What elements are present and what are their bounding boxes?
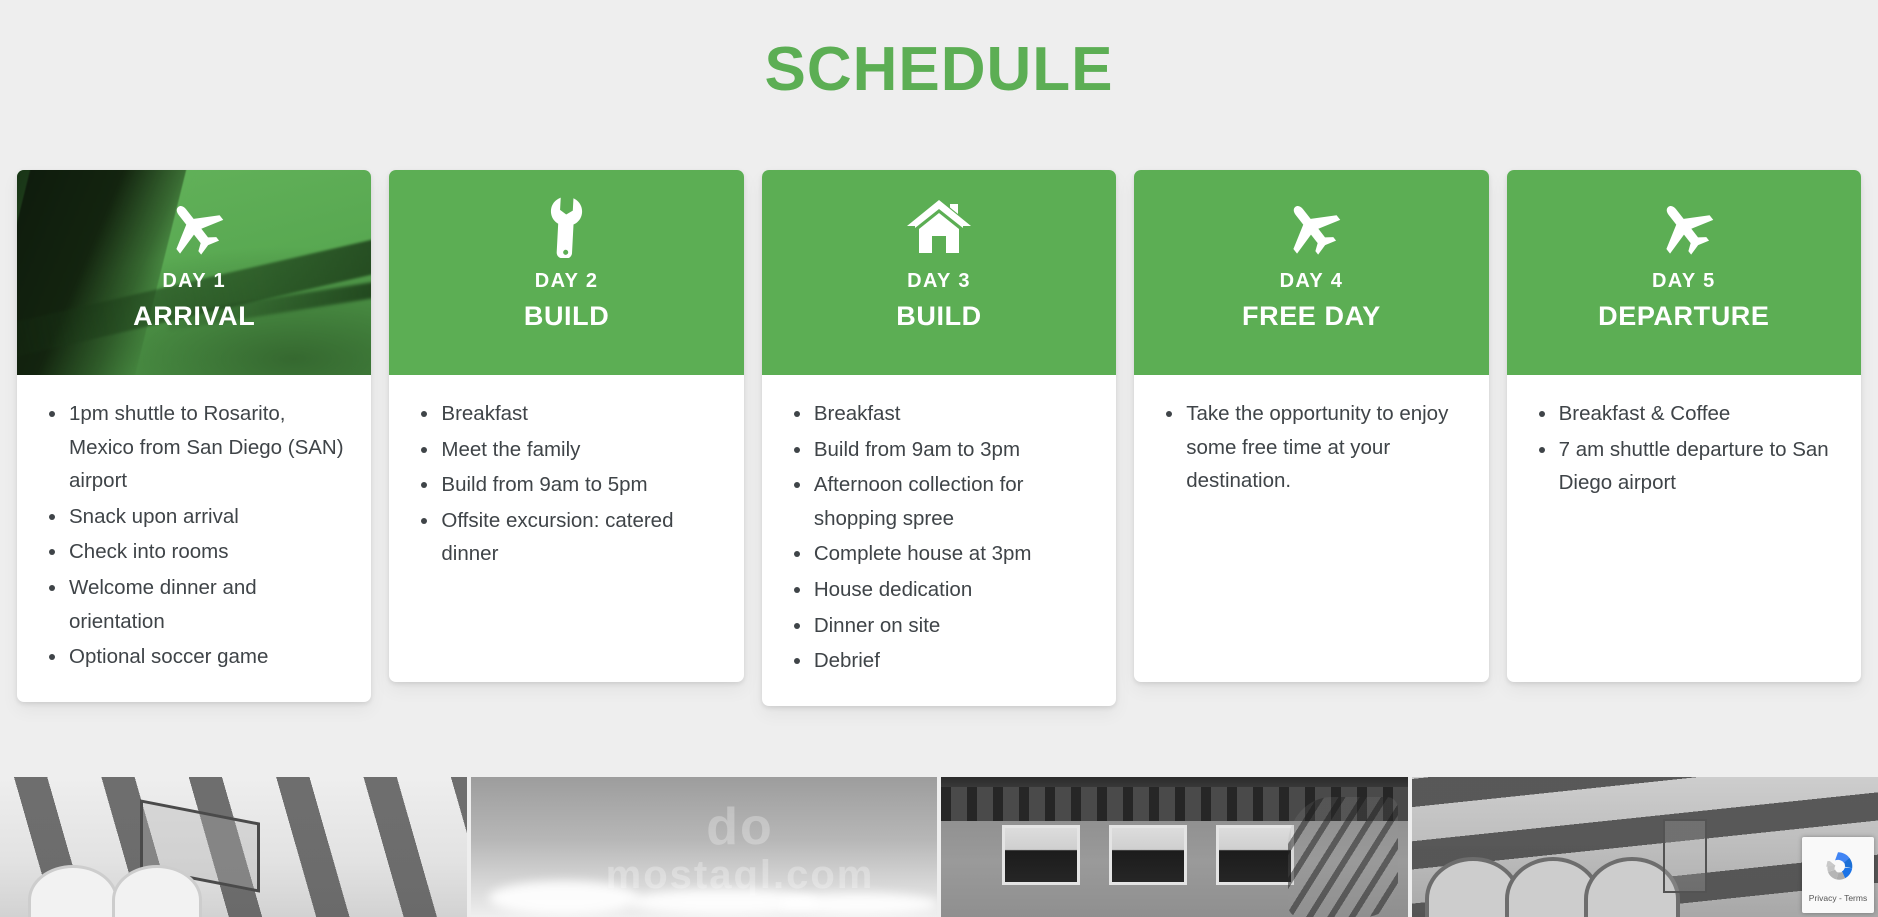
airplane-icon [1274,196,1348,258]
cloud-shape [778,893,937,915]
cloud-shape [489,881,639,915]
card-day-label: DAY 4 [1280,270,1344,293]
list-item: Debrief [788,644,1090,678]
list-item: Complete house at 3pm [788,537,1090,571]
card-item-list: 1pm shuttle to Rosarito, Mexico from San… [43,397,345,674]
card-day-label: DAY 2 [535,270,599,293]
schedule-card-day-5: DAY 5 DEPARTURE Breakfast & Coffee 7 am … [1507,170,1861,682]
list-item: Take the opportunity to enjoy some free … [1160,397,1462,498]
card-body-day-4: Take the opportunity to enjoy some free … [1134,375,1488,682]
card-day-label: DAY 3 [907,270,971,293]
card-day-name: DEPARTURE [1598,301,1769,332]
recaptcha-label: Privacy - Terms [1809,893,1867,903]
card-body-day-5: Breakfast & Coffee 7 am shuttle departur… [1507,375,1861,682]
gallery-strip [0,777,1878,917]
list-item: Meet the family [415,433,717,467]
card-item-list: Breakfast & Coffee 7 am shuttle departur… [1533,397,1835,500]
list-item: 1pm shuttle to Rosarito, Mexico from San… [43,397,345,498]
card-header-day-1: DAY 1 ARRIVAL [17,170,371,375]
card-header-day-2: DAY 2 BUILD [389,170,743,375]
list-item: Optional soccer game [43,640,345,674]
cloudy-sky-photo [471,777,938,917]
palm-tree-shape [1288,797,1398,917]
schedule-card-day-1: DAY 1 ARRIVAL 1pm shuttle to Rosarito, M… [17,170,371,702]
card-day-name: ARRIVAL [133,301,255,332]
card-day-name: FREE DAY [1242,301,1381,332]
card-header-day-5: DAY 5 DEPARTURE [1507,170,1861,375]
list-item: Check into rooms [43,535,345,569]
card-header-day-4: DAY 4 FREE DAY [1134,170,1488,375]
schedule-card-day-3: DAY 3 BUILD Breakfast Build from 9am to … [762,170,1116,706]
card-day-label: DAY 5 [1652,270,1716,293]
schedule-cards-row: DAY 1 ARRIVAL 1pm shuttle to Rosarito, M… [17,170,1861,706]
wrench-icon [530,196,604,258]
card-header-day-3: DAY 3 BUILD [762,170,1116,375]
list-item: Build from 9am to 5pm [415,468,717,502]
wood-beam-ceiling-photo [0,777,467,917]
list-item: Offsite excursion: catered dinner [415,504,717,571]
list-item: Build from 9am to 3pm [788,433,1090,467]
card-body-day-3: Breakfast Build from 9am to 3pm Afternoo… [762,375,1116,706]
card-body-day-2: Breakfast Meet the family Build from 9am… [389,375,743,682]
airplane-icon [157,196,231,258]
schedule-page: SCHEDULE DAY 1 ARRIVAL [0,0,1878,917]
list-item: Welcome dinner and orientation [43,571,345,638]
list-item: 7 am shuttle departure to San Diego airp… [1533,433,1835,500]
card-item-list: Breakfast Meet the family Build from 9am… [415,397,717,571]
list-item: Afternoon collection for shopping spree [788,468,1090,535]
list-item: Breakfast [415,397,717,431]
balcony-window [1002,825,1080,885]
recaptcha-icon [1817,847,1859,889]
list-item: Breakfast [788,397,1090,431]
card-day-label: DAY 1 [162,270,226,293]
card-day-name: BUILD [524,301,610,332]
list-item: Snack upon arrival [43,500,345,534]
card-item-list: Take the opportunity to enjoy some free … [1160,397,1462,498]
list-item: Breakfast & Coffee [1533,397,1835,431]
recaptcha-badge[interactable]: Privacy - Terms [1802,837,1874,913]
arch-shape [28,865,118,917]
schedule-card-day-4: DAY 4 FREE DAY Take the opportunity to e… [1134,170,1488,682]
list-item: Dinner on site [788,609,1090,643]
house-icon [902,196,976,258]
schedule-card-day-2: DAY 2 BUILD Breakfast Meet the family Bu… [389,170,743,682]
balcony-window [1109,825,1187,885]
airplane-icon [1647,196,1721,258]
balcony-window [1216,825,1294,885]
chandelier-shape [1663,819,1707,893]
card-day-name: BUILD [896,301,982,332]
card-item-list: Breakfast Build from 9am to 3pm Afternoo… [788,397,1090,678]
card-body-day-1: 1pm shuttle to Rosarito, Mexico from San… [17,375,371,702]
list-item: House dedication [788,573,1090,607]
page-title: SCHEDULE [0,36,1878,104]
building-facade-balconies-photo [941,777,1408,917]
page-title-container: SCHEDULE [0,0,1878,104]
